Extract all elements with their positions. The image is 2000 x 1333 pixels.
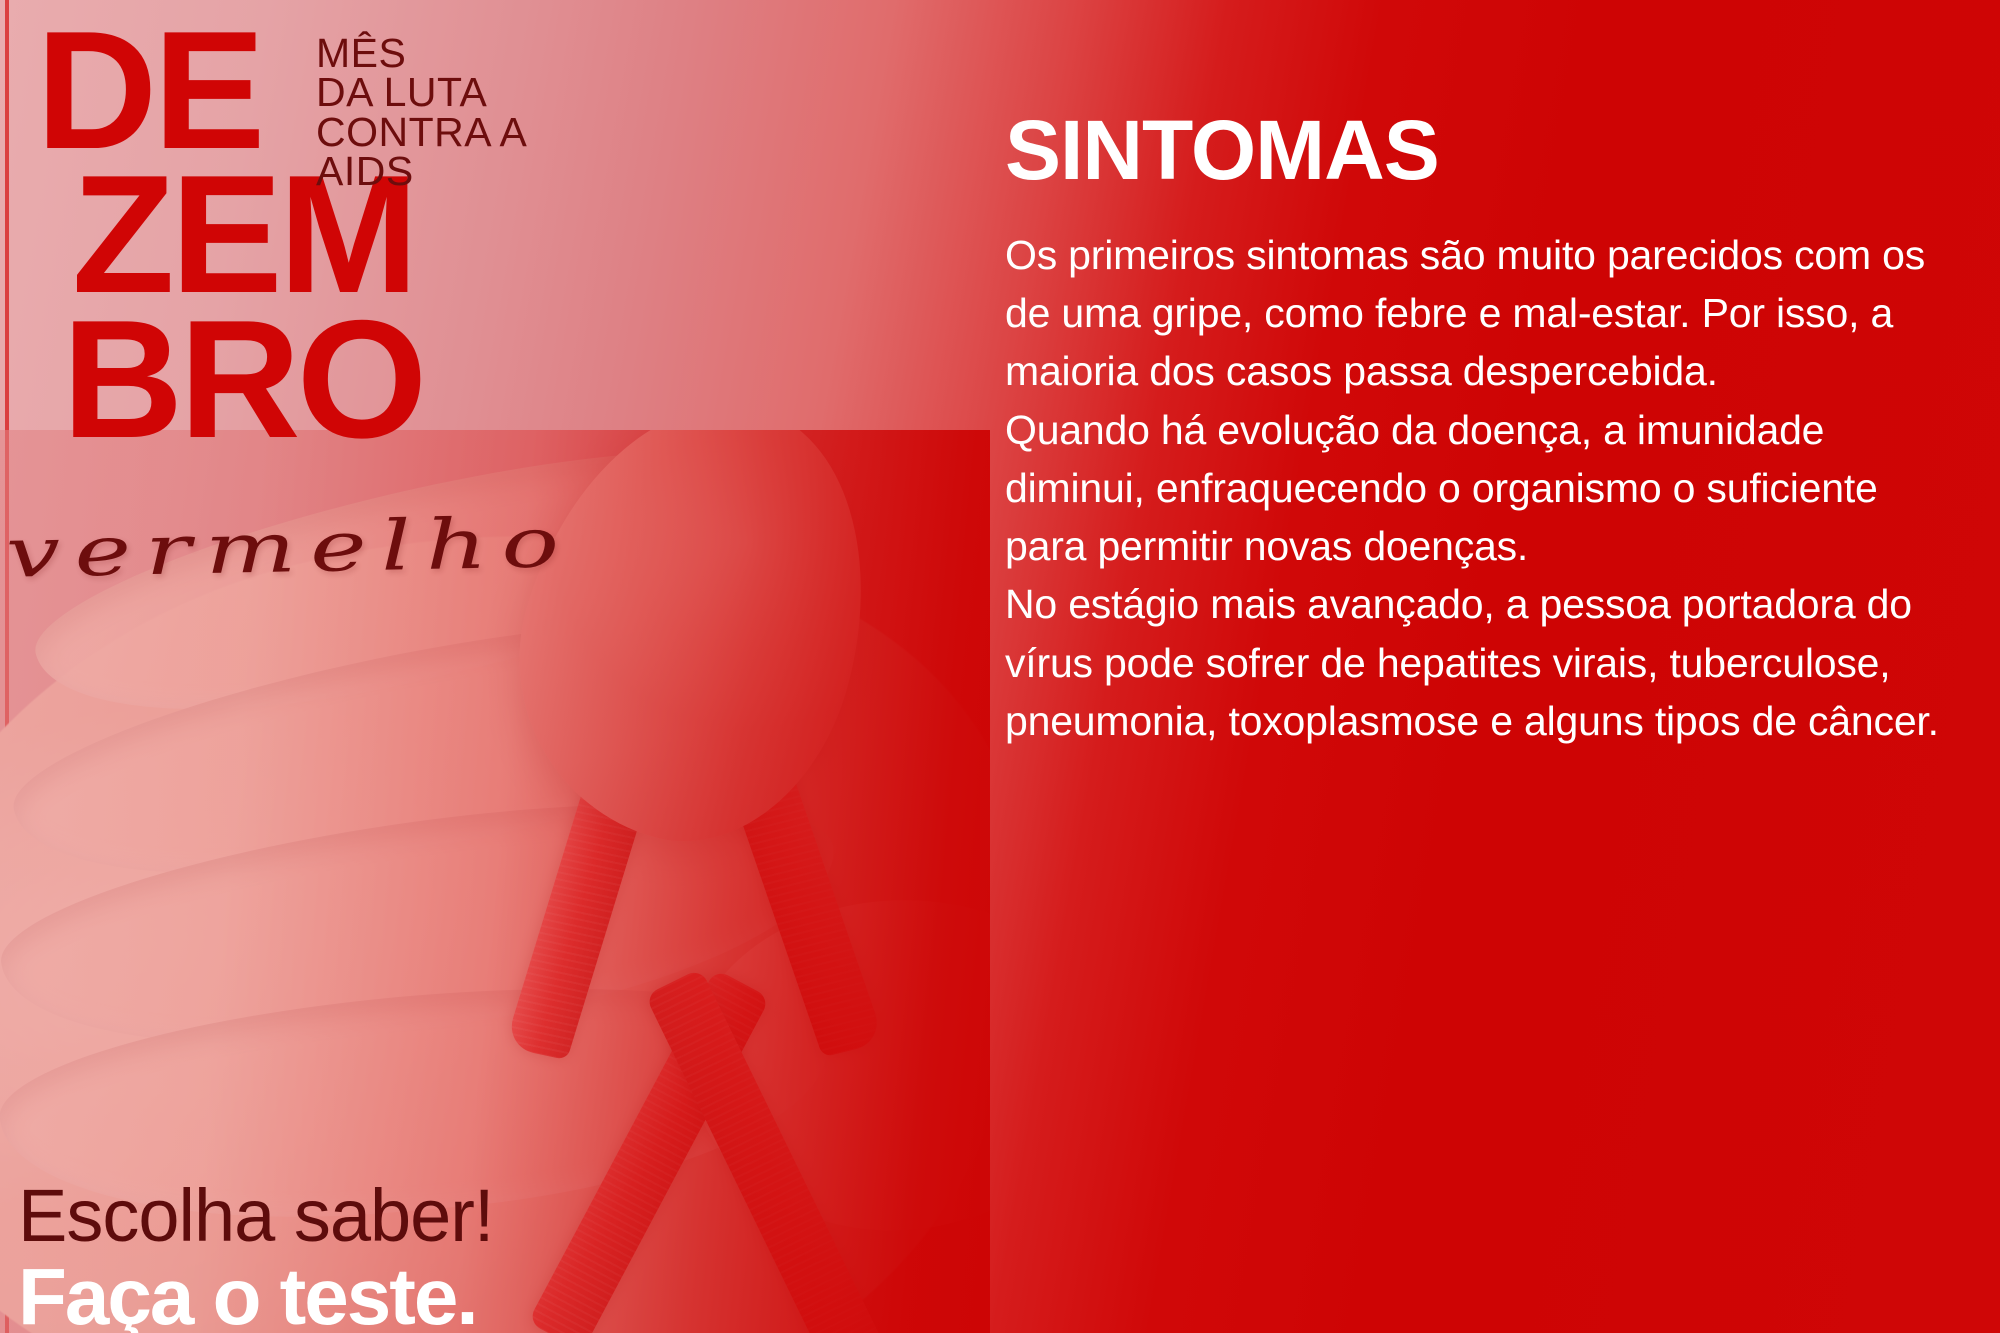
symptoms-paragraph-1: Os primeiros sintomas são muito parecido…: [1005, 226, 1945, 401]
cta-line-faca-o-teste: Faça o teste.: [18, 1257, 918, 1333]
campaign-subtitle: MÊS DA LUTA CONTRA A AIDS: [316, 34, 527, 191]
symptoms-paragraph-3: No estágio mais avançado, a pessoa porta…: [1005, 575, 1945, 750]
poster-canvas: DE ZEM BRO MÊS DA LUTA CONTRA A AIDS ver…: [0, 0, 2000, 1333]
symptoms-paragraph-2: Quando há evolução da doença, a imunidad…: [1005, 401, 1945, 576]
cta-line-escolha-saber: Escolha saber!: [18, 1179, 918, 1253]
call-to-action: Escolha saber! Faça o teste.: [18, 1179, 918, 1333]
panel-title: SINTOMAS: [1005, 108, 1945, 192]
brand-word-bro: BRO: [62, 307, 656, 451]
brand-script-vermelho: vermelho: [5, 502, 575, 593]
symptoms-panel: SINTOMAS Os primeiros sintomas são muito…: [1005, 108, 1945, 750]
